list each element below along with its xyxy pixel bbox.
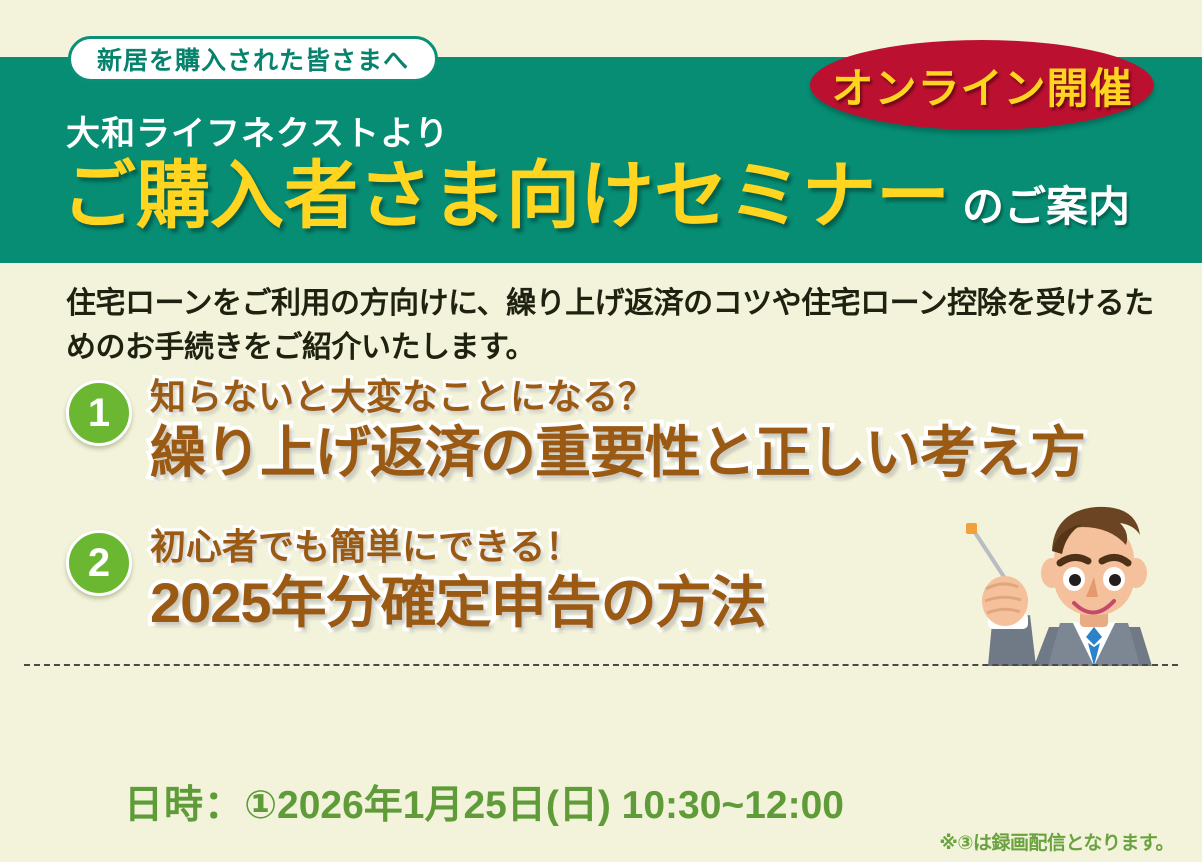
- online-badge: オンライン開催: [810, 40, 1154, 130]
- main-title-row: ご購入者さま向けセミナー のご案内: [62, 154, 1130, 238]
- page-title: ご購入者さま向けセミナー: [62, 154, 950, 238]
- topic-subtitle-2: 初心者でも簡単にできる！: [150, 524, 766, 570]
- section-divider: [24, 664, 1178, 666]
- description-text: 住宅ローンをご利用の方向けに、繰り上げ返済のコツや住宅ローン控除を受けるためのお…: [66, 282, 1156, 370]
- audience-pill: 新居を購入された皆さまへ: [68, 36, 438, 82]
- topic-item-1: 1 知らないと大変なことになる？ 繰り上げ返済の重要性と正しい考え方: [66, 374, 1085, 486]
- topic-number-badge-2: 2: [66, 530, 132, 596]
- schedule-row-1-text: ①2026年1月25日(日) 10:30~12:00: [244, 784, 844, 827]
- topic-title-1: 繰り上げ返済の重要性と正しい考え方: [150, 420, 1085, 486]
- topic-item-2: 2 初心者でも簡単にできる！ 2025年分確定申告の方法: [66, 524, 766, 636]
- topic-text-1: 知らないと大変なことになる？ 繰り上げ返済の重要性と正しい考え方: [150, 374, 1085, 486]
- company-line: 大和ライフネクストより: [66, 106, 449, 155]
- topic-subtitle-1: 知らないと大変なことになる？: [150, 374, 1085, 420]
- topic-title-2: 2025年分確定申告の方法: [150, 570, 766, 636]
- footnote-text: ※③は録画配信となります。: [939, 828, 1174, 855]
- topic-number-badge-1: 1: [66, 380, 132, 446]
- schedule-block: 日時：①2026年1月25日(日) 10:30~12:00 ②2026年2月 1…: [124, 683, 881, 862]
- topic-text-2: 初心者でも簡単にできる！ 2025年分確定申告の方法: [150, 524, 766, 636]
- schedule-label: 日時：: [124, 784, 244, 827]
- schedule-row-1: 日時：①2026年1月25日(日) 10:30~12:00: [124, 781, 881, 830]
- topic-number-1: 1: [88, 393, 110, 433]
- audience-pill-label: 新居を購入された皆さまへ: [97, 41, 409, 77]
- topic-number-2: 2: [88, 543, 110, 583]
- page-title-suffix: のご案内: [962, 176, 1130, 238]
- seminar-banner: 新居を購入された皆さまへ オンライン開催 大和ライフネクストより ご購入者さま向…: [0, 0, 1202, 862]
- online-badge-label: オンライン開催: [831, 55, 1132, 116]
- presenter-illustration: [952, 495, 1202, 666]
